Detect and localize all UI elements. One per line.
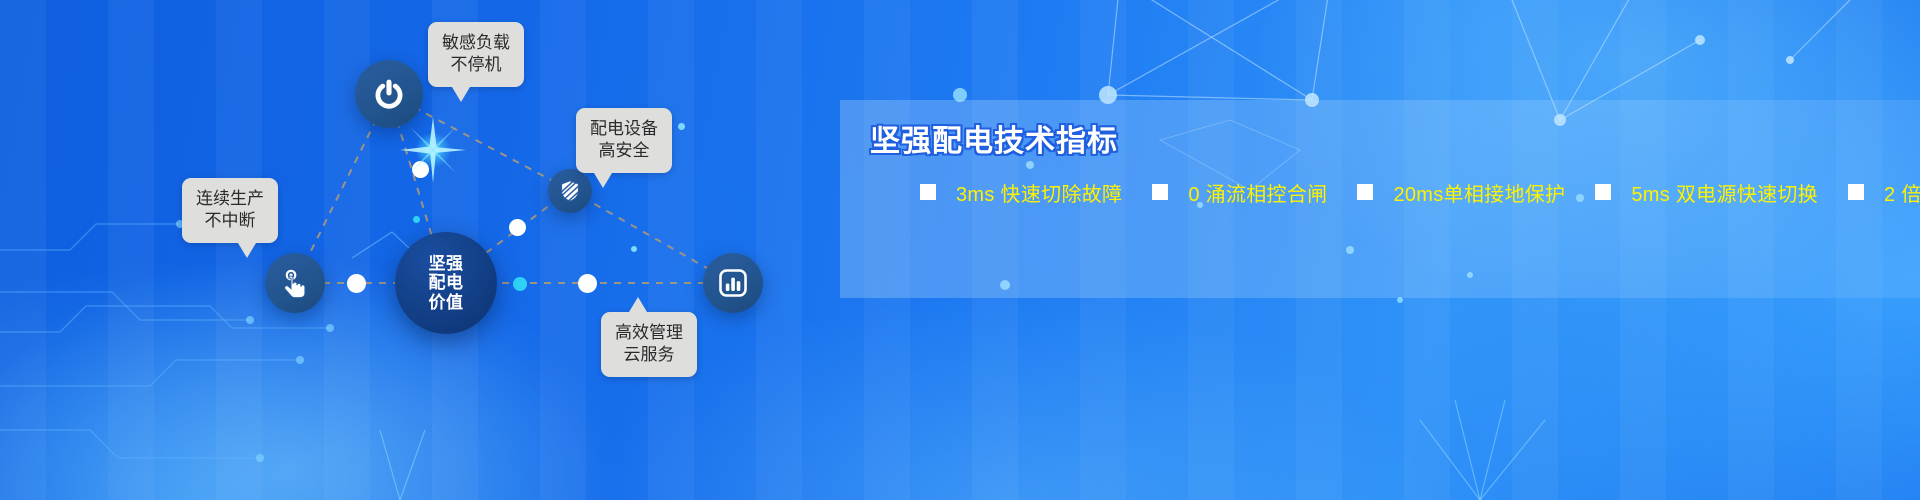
power-icon — [371, 76, 407, 112]
center-value-node[interactable]: 坚强 配电 价值 — [395, 232, 497, 334]
metrics-grid: 3ms 快速切除故障 0 涌流相控合闸 20ms单相接地保护 5ms 双电源快速… — [920, 172, 1920, 212]
shield-icon — [558, 179, 582, 203]
bubble-shield[interactable]: 配电设备 高安全 — [576, 108, 672, 173]
bubble-power[interactable]: 敏感负载 不停机 — [428, 22, 524, 87]
metric-label: 3ms 快速切除故障 — [956, 178, 1122, 207]
bullet-square-icon — [1152, 184, 1168, 200]
bubble-tail — [238, 243, 256, 258]
bubble-tail — [452, 87, 470, 102]
metric-item[interactable]: 2 倍低过电压保护 — [1848, 172, 1920, 212]
bubble-chart-line2: 云服务 — [615, 344, 683, 366]
bar-chart-icon — [717, 267, 749, 299]
bubble-chart[interactable]: 高效管理 云服务 — [601, 312, 697, 377]
link-dot — [412, 161, 429, 178]
bubble-touch-line1: 连续生产 — [196, 188, 264, 210]
link-dot — [678, 123, 685, 130]
bubble-power-line2: 不停机 — [442, 54, 510, 76]
node-chart[interactable] — [703, 253, 763, 313]
center-line-3: 价值 — [429, 293, 464, 312]
tech-indicators-panel: 坚强配电技术指标 3ms 快速切除故障 0 涌流相控合闸 20ms单相接地保护 … — [840, 100, 1920, 298]
node-shield[interactable] — [548, 169, 592, 213]
link-dot — [631, 246, 637, 252]
link-dot — [513, 277, 527, 291]
link-dot — [413, 216, 420, 223]
node-power[interactable] — [355, 60, 423, 128]
metric-item[interactable]: 3ms 快速切除故障 — [920, 172, 1122, 212]
bubble-tail — [594, 173, 612, 188]
touch-icon — [278, 266, 312, 300]
bubble-power-line1: 敏感负载 — [442, 32, 510, 54]
center-line-2: 配电 — [429, 273, 464, 292]
value-network-diagram: 坚强 配电 价值 敏感负载 不停机 配电设备 高安全 连续生产 不中断 高效管理… — [0, 0, 860, 500]
bubble-chart-line1: 高效管理 — [615, 322, 683, 344]
panel-title: 坚强配电技术指标 — [870, 116, 1118, 160]
link-dot — [578, 274, 597, 293]
bubble-touch[interactable]: 连续生产 不中断 — [182, 178, 278, 243]
link-dot — [347, 274, 366, 293]
bubble-shield-line2: 高安全 — [590, 140, 658, 162]
metric-label: 2 倍低过电压保护 — [1884, 178, 1920, 207]
bubble-tail — [629, 297, 647, 312]
bullet-square-icon — [1848, 184, 1864, 200]
bubble-shield-line1: 配电设备 — [590, 118, 658, 140]
metric-item[interactable]: 5ms 双电源快速切换 — [1595, 172, 1818, 212]
bullet-square-icon — [920, 184, 936, 200]
metric-label: 20ms单相接地保护 — [1393, 178, 1565, 207]
bubble-touch-line2: 不中断 — [196, 210, 264, 232]
metric-item[interactable]: 0 涌流相控合闸 — [1152, 172, 1327, 212]
bullet-square-icon — [1595, 184, 1611, 200]
node-touch[interactable] — [265, 253, 325, 313]
bullet-square-icon — [1357, 184, 1373, 200]
link-dot — [509, 219, 526, 236]
promo-banner: 坚强 配电 价值 敏感负载 不停机 配电设备 高安全 连续生产 不中断 高效管理… — [0, 0, 1920, 500]
metric-label: 0 涌流相控合闸 — [1188, 178, 1327, 207]
metric-item[interactable]: 20ms单相接地保护 — [1357, 172, 1565, 212]
metric-label: 5ms 双电源快速切换 — [1631, 178, 1818, 207]
center-line-1: 坚强 — [429, 254, 464, 273]
